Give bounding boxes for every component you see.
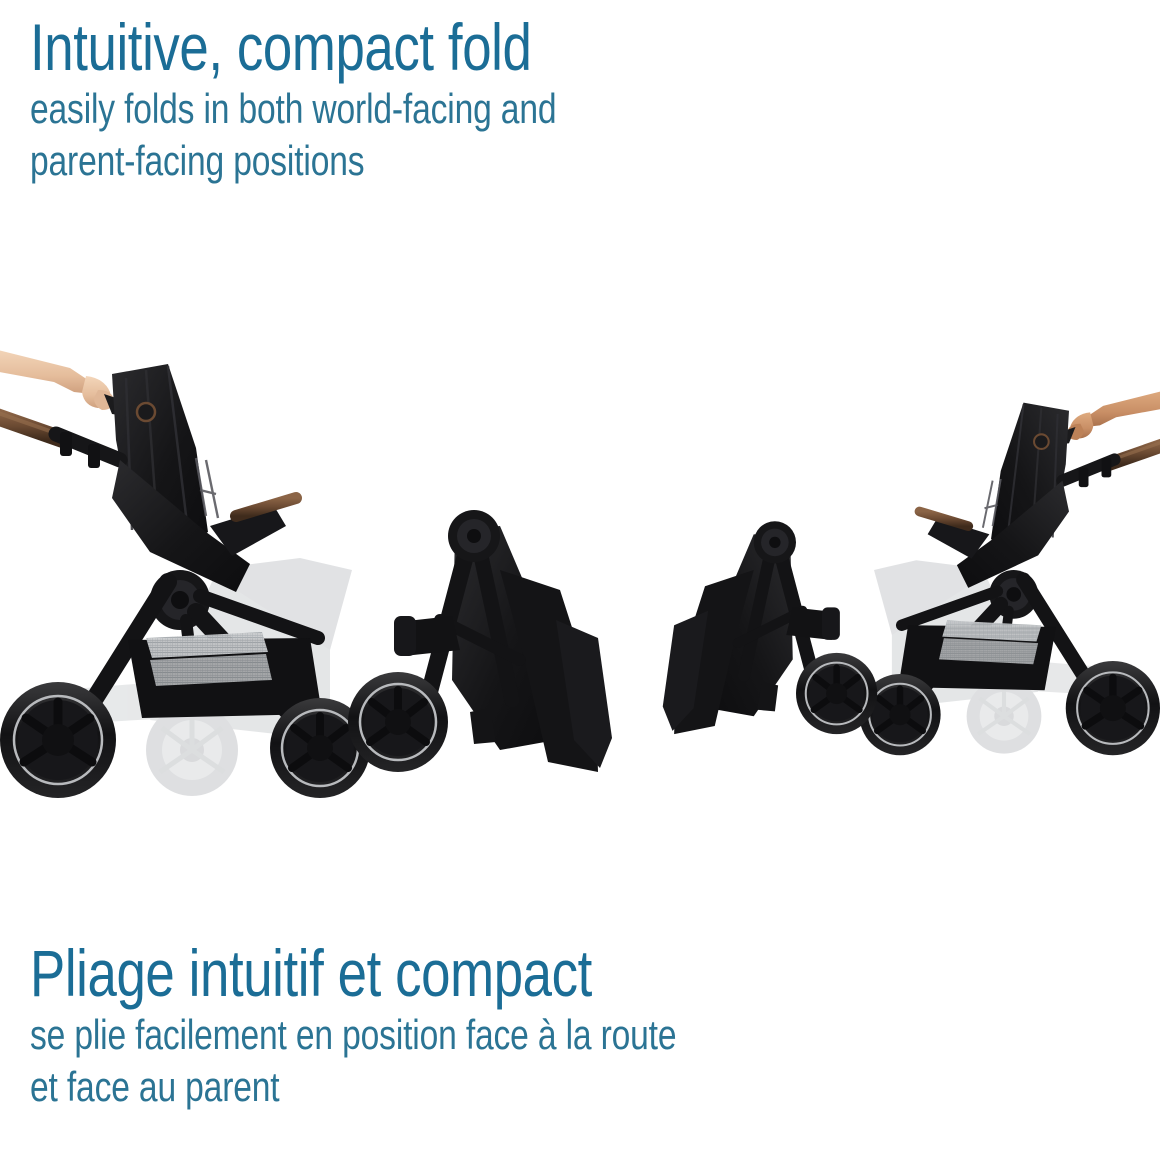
- wheel-folded-left: [348, 672, 448, 772]
- product-photo-area: [0, 320, 1160, 820]
- basket-right: [898, 620, 1056, 690]
- stroller-folded-left: [348, 510, 612, 772]
- handlebar-left: [0, 408, 120, 468]
- wheel-left-rear: [0, 682, 116, 798]
- top-subline-2: parent-facing positions: [30, 135, 556, 186]
- handlebar-right: [1063, 438, 1160, 487]
- fold-hub-folded-left: [448, 510, 500, 562]
- top-subline-1: easily folds in both world-facing and: [30, 83, 556, 134]
- marketing-image: Intuitive, compact fold easily folds in …: [0, 0, 1160, 1160]
- wheel-folded-right: [796, 653, 877, 734]
- fold-sequence-world-facing: [0, 320, 640, 820]
- bottom-subline-2: et face au parent: [30, 1061, 676, 1112]
- fold-hub-folded-right: [754, 521, 796, 563]
- parent-facing-illustration: [640, 320, 1160, 820]
- stroller-folded-right: [663, 521, 878, 734]
- basket-left: [128, 632, 322, 718]
- bottom-headline: Pliage intuitif et compact: [30, 940, 676, 1007]
- world-facing-illustration: [0, 320, 640, 820]
- top-text-block: Intuitive, compact fold easily folds in …: [30, 14, 688, 186]
- fold-sequence-parent-facing: [640, 320, 1160, 820]
- wheel-right-rear: [1066, 661, 1160, 755]
- hand-left: [0, 348, 114, 410]
- bottom-text-block: Pliage intuitif et compact se plie facil…: [30, 940, 838, 1112]
- hand-right: [1067, 390, 1160, 440]
- bottom-subline-1: se plie facilement en position face à la…: [30, 1009, 676, 1060]
- top-headline: Intuitive, compact fold: [30, 14, 556, 81]
